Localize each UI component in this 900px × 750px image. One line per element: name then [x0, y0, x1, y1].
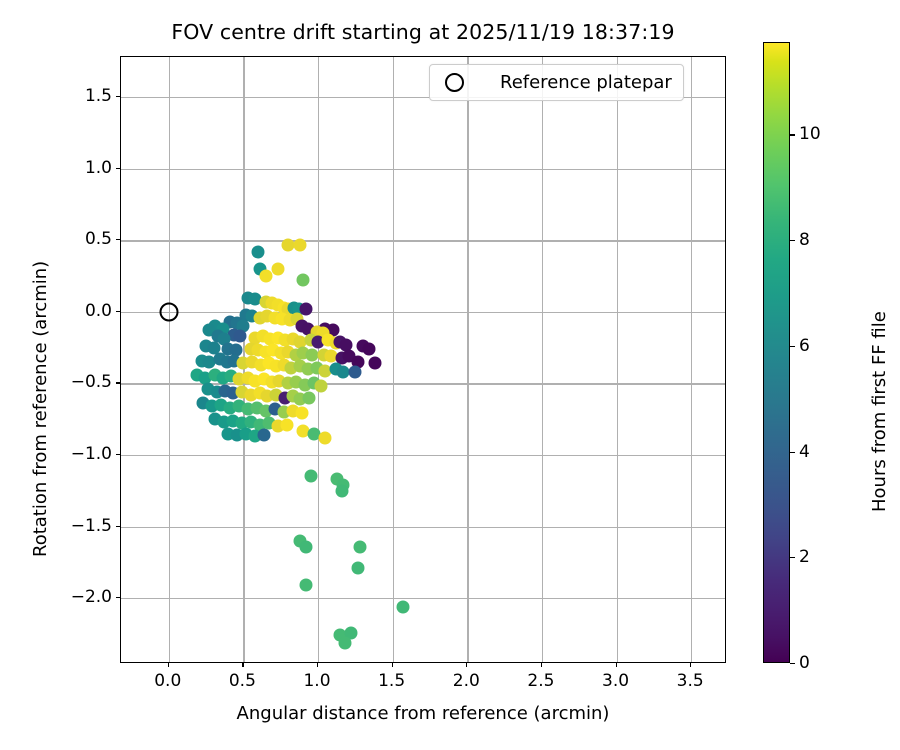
x-axis-label: Angular distance from reference (arcmin)	[120, 703, 726, 724]
scatter-point	[338, 636, 351, 649]
colorbar-tick-label: 4	[799, 442, 810, 462]
x-tick-mark	[168, 663, 169, 667]
figure: FOV centre drift starting at 2025/11/19 …	[0, 0, 900, 750]
scatter-point	[349, 365, 362, 378]
gridline-horizontal	[121, 527, 725, 528]
colorbar-tick-mark	[790, 663, 795, 664]
scatter-point	[300, 540, 313, 553]
y-tick-label: −1.0	[71, 444, 112, 464]
y-tick-mark	[116, 526, 120, 527]
y-tick-label: −1.5	[71, 516, 112, 536]
x-tick-label: 3.5	[677, 671, 704, 691]
gridline-horizontal	[121, 312, 725, 313]
gridline-horizontal	[121, 169, 725, 170]
colorbar-tick-mark	[790, 452, 795, 453]
colorbar: 0246810	[763, 42, 790, 663]
scatter-point	[303, 391, 316, 404]
y-tick-label: −0.5	[71, 372, 112, 392]
page-title: FOV centre drift starting at 2025/11/19 …	[120, 20, 726, 44]
scatter-point	[304, 470, 317, 483]
x-tick-label: 2.5	[527, 671, 554, 691]
gridline-horizontal	[121, 455, 725, 456]
scatter-point	[252, 245, 265, 258]
y-tick-mark	[116, 96, 120, 97]
x-tick-mark	[317, 663, 318, 667]
legend-label-reference-platepar: Reference platepar	[500, 72, 672, 93]
y-tick-label: 0.0	[85, 301, 112, 321]
colorbar-tick-mark	[790, 346, 795, 347]
gridline-horizontal	[121, 240, 725, 241]
scatter-point	[259, 270, 272, 283]
gridline-vertical	[691, 57, 692, 662]
y-tick-mark	[116, 168, 120, 169]
y-tick-mark	[116, 597, 120, 598]
x-tick-mark	[466, 663, 467, 667]
y-tick-label: 0.5	[85, 229, 112, 249]
y-tick-mark	[116, 239, 120, 240]
colorbar-tick-mark	[790, 557, 795, 558]
colorbar-tick-label: 8	[799, 230, 810, 250]
scatter-point	[295, 407, 308, 420]
colorbar-label: Hours from first FF file	[869, 311, 890, 512]
gridline-vertical	[542, 57, 543, 662]
colorbar-tick-label: 10	[799, 124, 821, 144]
legend-open-circle-icon	[445, 73, 464, 92]
y-tick-mark	[116, 382, 120, 383]
scatter-point	[335, 484, 348, 497]
reference-platepar-marker	[159, 302, 178, 321]
gridline-vertical	[467, 57, 468, 662]
x-tick-mark	[690, 663, 691, 667]
scatter-point	[258, 428, 271, 441]
gridline-vertical	[617, 57, 618, 662]
legend: Reference platepar	[429, 64, 684, 101]
scatter-point	[362, 343, 375, 356]
y-axis-label: Rotation from reference (arcmin)	[30, 261, 51, 557]
gridline-vertical	[169, 57, 170, 662]
colorbar-gradient	[763, 42, 790, 663]
scatter-point	[271, 262, 284, 275]
scatter-point	[234, 330, 247, 343]
scatter-point	[297, 274, 310, 287]
plot-area	[120, 56, 726, 663]
gridline-vertical	[393, 57, 394, 662]
x-tick-mark	[616, 663, 617, 667]
scatter-point	[300, 579, 313, 592]
scatter-point	[315, 380, 328, 393]
y-tick-mark	[116, 454, 120, 455]
gridline-horizontal	[121, 598, 725, 599]
colorbar-tick-mark	[790, 240, 795, 241]
x-tick-mark	[242, 663, 243, 667]
x-tick-label: 0.5	[229, 671, 256, 691]
x-tick-label: 1.0	[303, 671, 330, 691]
scatter-point	[319, 431, 332, 444]
colorbar-tick-label: 6	[799, 336, 810, 356]
scatter-point	[397, 600, 410, 613]
scatter-point	[368, 357, 381, 370]
x-tick-label: 1.5	[378, 671, 405, 691]
x-tick-label: 0.0	[154, 671, 181, 691]
colorbar-tick-label: 0	[799, 653, 810, 673]
x-tick-label: 2.0	[453, 671, 480, 691]
scatter-point	[352, 562, 365, 575]
x-tick-label: 3.0	[602, 671, 629, 691]
colorbar-tick-mark	[790, 134, 795, 135]
scatter-point	[353, 540, 366, 553]
colorbar-tick-label: 2	[799, 547, 810, 567]
y-tick-label: 1.0	[85, 158, 112, 178]
scatter-point	[294, 238, 307, 251]
scatter-point	[280, 418, 293, 431]
x-tick-mark	[392, 663, 393, 667]
x-tick-mark	[541, 663, 542, 667]
y-tick-mark	[116, 311, 120, 312]
y-tick-label: 1.5	[85, 86, 112, 106]
y-tick-label: −2.0	[71, 587, 112, 607]
